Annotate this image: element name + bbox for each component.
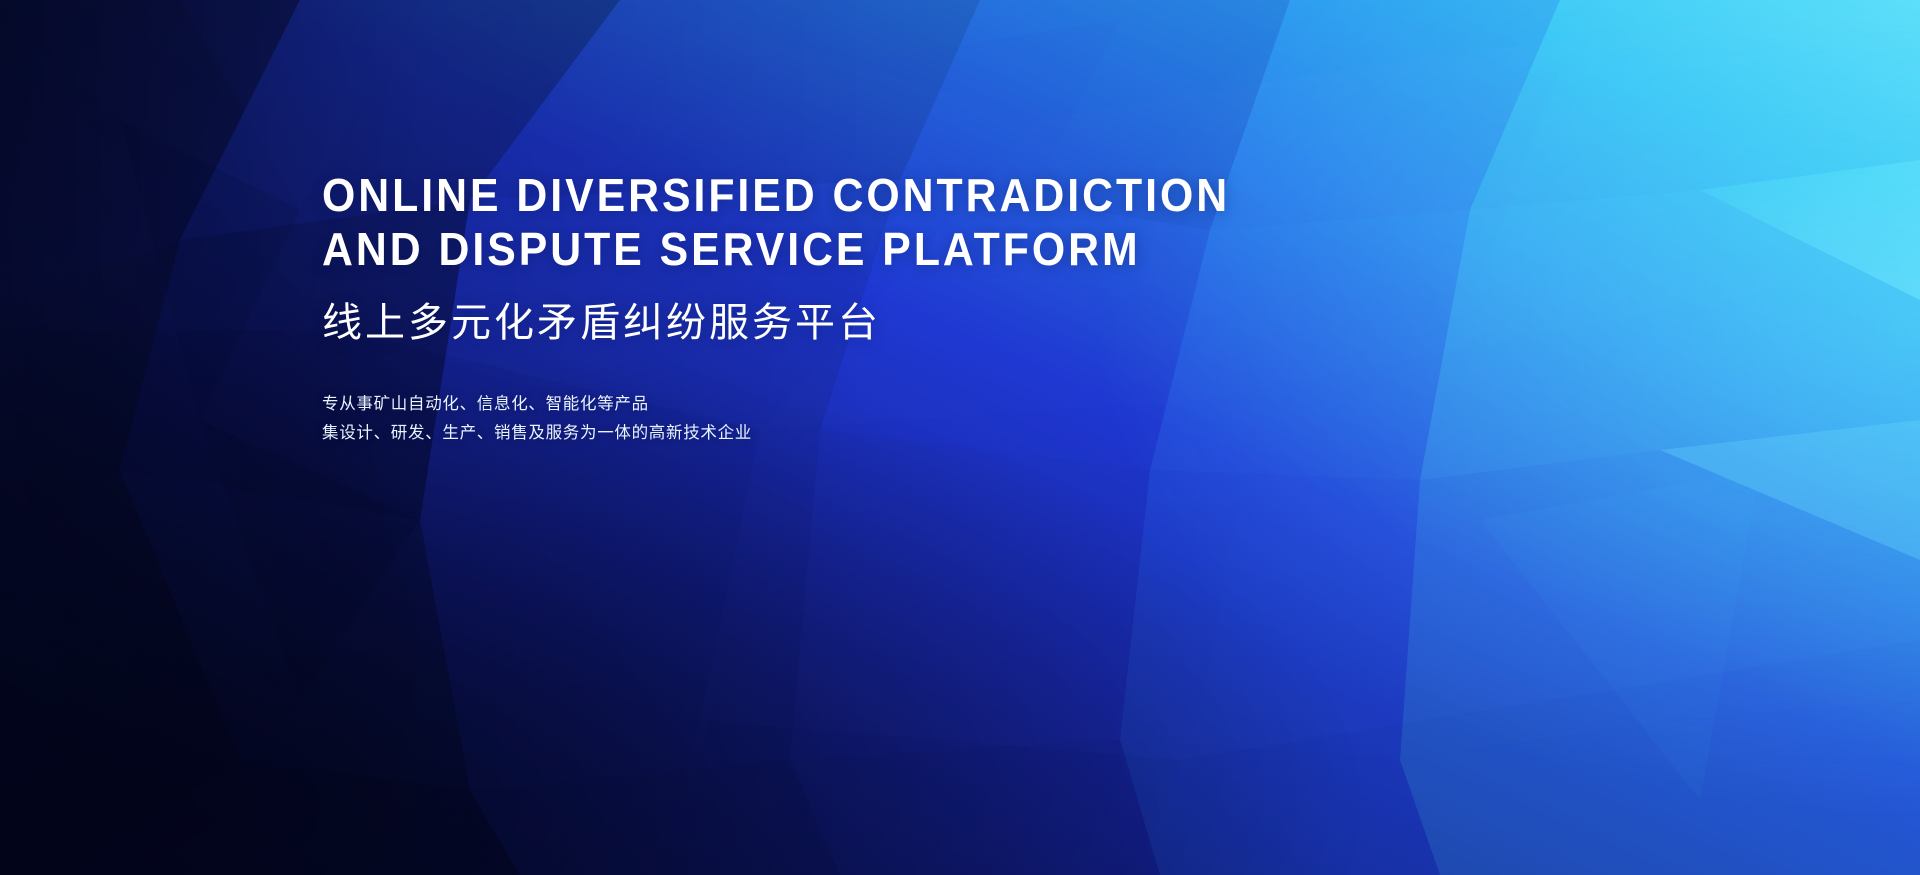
description-line-2: 集设计、研发、生产、销售及服务为一体的高新技术企业 — [322, 419, 1522, 448]
headline-chinese: 线上多元化矛盾纠纷服务平台 — [322, 298, 1522, 348]
description-block: 专从事矿山自动化、信息化、智能化等产品 集设计、研发、生产、销售及服务为一体的高… — [322, 390, 1522, 448]
headline-english-line-1: ONLINE DIVERSIFIED CONTRADICTION — [322, 168, 1438, 222]
headline-english: ONLINE DIVERSIFIED CONTRADICTION AND DIS… — [322, 168, 1438, 276]
hero-banner: ONLINE DIVERSIFIED CONTRADICTION AND DIS… — [0, 0, 1920, 875]
headline-english-line-2: AND DISPUTE SERVICE PLATFORM — [322, 222, 1438, 276]
hero-content: ONLINE DIVERSIFIED CONTRADICTION AND DIS… — [322, 168, 1522, 448]
description-line-1: 专从事矿山自动化、信息化、智能化等产品 — [322, 390, 1522, 419]
